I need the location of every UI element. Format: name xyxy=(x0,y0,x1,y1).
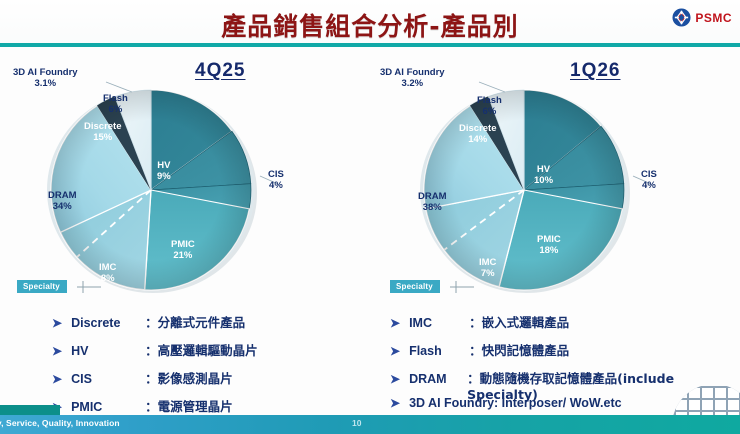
bullet-desc: ：嵌入式邏輯產品 xyxy=(469,312,569,331)
bullet-term: CIS xyxy=(71,372,145,386)
bullet-arrow-icon: ➤ xyxy=(52,372,62,386)
bullet-desc: ：高壓邏輯驅動晶片 xyxy=(145,340,258,359)
slice-label-3d-ai-foundry: 3D AI Foundry 3.2% xyxy=(380,68,445,90)
slice-label-cis: CIS 4% xyxy=(268,170,284,192)
list-item: ➤ IMC ：嵌入式邏輯產品 xyxy=(390,312,740,340)
bullet-term: Flash xyxy=(409,344,469,358)
bullet-term: IMC xyxy=(409,316,469,330)
bullet-arrow-icon: ➤ xyxy=(390,344,400,358)
list-item: ➤ HV ：高壓邏輯驅動晶片 xyxy=(52,340,372,368)
slice-label-hv: HV 9% xyxy=(157,161,171,183)
bullet-arrow-icon: ➤ xyxy=(390,396,400,410)
slice-label-flash: Flash 6% xyxy=(103,94,128,116)
bullet-desc: ：影像感測晶片 xyxy=(145,368,233,387)
slice-label-3d-ai-foundry: 3D AI Foundry 3.1% xyxy=(13,68,78,90)
page-title: 產品銷售組合分析-產品別 xyxy=(0,7,740,43)
bullet-term: HV xyxy=(71,344,145,358)
chart-4q25: 4Q25 xyxy=(5,52,370,307)
psmc-diamond-logo-icon xyxy=(672,8,691,27)
bullet-term: Discrete xyxy=(71,316,145,330)
list-item: ➤ Flash ：快閃記憶體產品 xyxy=(390,340,740,368)
bullet-arrow-icon: ➤ xyxy=(390,316,400,330)
slice-label-pmic: PMIC 18% xyxy=(537,235,561,257)
bullet-term: 3D AI Foundry: Interposer/ WoW.etc xyxy=(409,396,622,410)
psmc-logo-text: PSMC xyxy=(695,11,732,25)
slice-label-discrete: Discrete 14% xyxy=(459,124,497,146)
specialty-leader-line-4q25 xyxy=(77,280,103,294)
specialty-leader-line-1q26 xyxy=(450,280,476,294)
slice-label-dram: DRAM 34% xyxy=(48,191,77,213)
bullet-desc: ：分離式元件產品 xyxy=(145,312,245,331)
bullet-desc: ：快閃記憶體產品 xyxy=(469,340,569,359)
slice-label-hv: HV 10% xyxy=(534,165,553,187)
footer-tagline: ty, Service, Quality, Innovation xyxy=(0,418,120,428)
list-item: ➤ Discrete ：分離式元件產品 xyxy=(52,312,372,340)
slice-label-imc: IMC 7% xyxy=(479,258,496,280)
bullet-arrow-icon: ➤ xyxy=(390,372,400,386)
bullet-desc: ：電源管理晶片 xyxy=(145,396,233,415)
psmc-logo: PSMC xyxy=(672,8,732,27)
page-number: 10 xyxy=(352,418,361,428)
slice-label-dram: DRAM 38% xyxy=(418,192,447,214)
slide-footer: ty, Service, Quality, Innovation 10 xyxy=(0,415,740,434)
chart-1q26-pie: Discrete 14% HV 10% PMIC 18% IMC 7% DRAM… xyxy=(404,80,652,300)
legend-list-left: ➤ Discrete ：分離式元件產品 ➤ HV ：高壓邏輯驅動晶片 ➤ CIS… xyxy=(52,312,372,424)
footer-accent-block xyxy=(0,405,60,415)
specialty-badge-4q25: Specialty xyxy=(17,280,67,293)
slice-label-flash: Flash 6% xyxy=(477,96,502,118)
slice-label-discrete: Discrete 15% xyxy=(84,122,122,144)
slice-label-pmic: PMIC 21% xyxy=(171,240,195,262)
slide: 產品銷售組合分析-產品別 PSMC 4Q25 xyxy=(0,0,740,434)
bullet-arrow-icon: ➤ xyxy=(52,344,62,358)
header-divider xyxy=(0,43,740,47)
list-item: ➤ CIS ：影像感測晶片 xyxy=(52,368,372,396)
slide-header: 產品銷售組合分析-產品別 PSMC xyxy=(0,0,740,47)
chart-4q25-period-label: 4Q25 xyxy=(195,60,245,82)
slice-label-cis: CIS 4% xyxy=(641,170,657,192)
chart-1q26: 1Q26 xyxy=(372,52,737,307)
bullet-term: DRAM xyxy=(409,372,467,386)
chart-4q25-pie: Discrete 15% HV 9% PMIC 21% IMC 8% DRAM … xyxy=(31,80,279,300)
bullet-arrow-icon: ➤ xyxy=(52,316,62,330)
bullet-term: PMIC xyxy=(71,400,145,414)
chart-1q26-period-label: 1Q26 xyxy=(570,60,620,82)
specialty-badge-1q26: Specialty xyxy=(390,280,440,293)
